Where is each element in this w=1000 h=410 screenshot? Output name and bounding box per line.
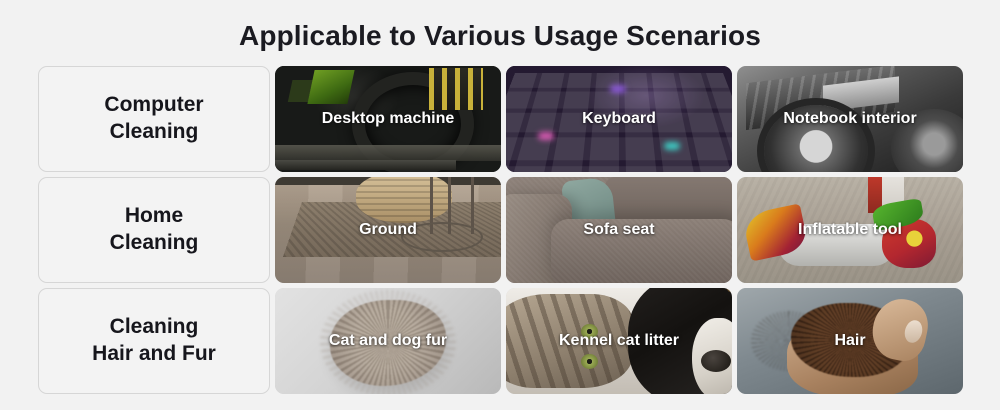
tile-caption: Sofa seat — [506, 221, 732, 239]
cat-eye-shape — [581, 354, 598, 369]
scenario-grid: Computer Cleaning Desktop machine — [38, 66, 963, 394]
scenario-tile-keyboard[interactable]: Keyboard — [506, 66, 732, 172]
dog-eye-shape — [726, 288, 732, 293]
tile-caption: Notebook interior — [737, 110, 963, 128]
tile-caption: Inflatable tool — [737, 221, 963, 239]
category-label-computer-cleaning: Computer Cleaning — [38, 66, 270, 172]
scenario-tile-hair[interactable]: Hair — [737, 288, 963, 394]
key-backlight-glow — [538, 132, 554, 140]
key-backlight-glow — [664, 142, 680, 150]
key-backlight-glow — [610, 85, 626, 93]
category-label-cleaning-hair-and-fur: Cleaning Hair and Fur — [38, 288, 270, 394]
category-label-line2: Cleaning — [110, 230, 199, 257]
category-label-line1: Computer — [104, 92, 203, 119]
dog-nose-shape — [701, 350, 731, 372]
category-label-line2: Hair and Fur — [92, 341, 216, 368]
woven-basket-shape — [356, 177, 452, 223]
tile-caption: Cat and dog fur — [275, 332, 501, 350]
category-label-line1: Home — [110, 203, 199, 230]
usage-scenarios-page: Applicable to Various Usage Scenarios Co… — [0, 0, 1000, 410]
scenario-tile-desktop-machine[interactable]: Desktop machine — [275, 66, 501, 172]
category-label-line1: Cleaning — [92, 314, 216, 341]
tile-caption: Keyboard — [506, 110, 732, 128]
scenario-row: Cleaning Hair and Fur Cat and dog fur — [38, 288, 963, 394]
scenario-row: Home Cleaning Ground — [38, 177, 963, 283]
chassis-bar-lower-shape — [275, 160, 456, 170]
category-label-line2: Cleaning — [104, 119, 203, 146]
scenario-tile-ground[interactable]: Ground — [275, 177, 501, 283]
tile-caption: Hair — [737, 332, 963, 350]
scenario-tile-sofa-seat[interactable]: Sofa seat — [506, 177, 732, 283]
scenario-tile-cat-and-dog-fur[interactable]: Cat and dog fur — [275, 288, 501, 394]
page-title: Applicable to Various Usage Scenarios — [0, 20, 1000, 52]
category-label-home-cleaning: Home Cleaning — [38, 177, 270, 283]
scenario-tile-notebook-interior[interactable]: Notebook interior — [737, 66, 963, 172]
tile-caption: Ground — [275, 221, 501, 239]
scenario-row: Computer Cleaning Desktop machine — [38, 66, 963, 172]
tile-caption: Kennel cat litter — [506, 332, 732, 350]
scenario-tile-kennel-cat-litter[interactable]: Kennel cat litter — [506, 288, 732, 394]
scenario-tile-inflatable-tool[interactable]: Inflatable tool — [737, 177, 963, 283]
tile-caption: Desktop machine — [275, 110, 501, 128]
